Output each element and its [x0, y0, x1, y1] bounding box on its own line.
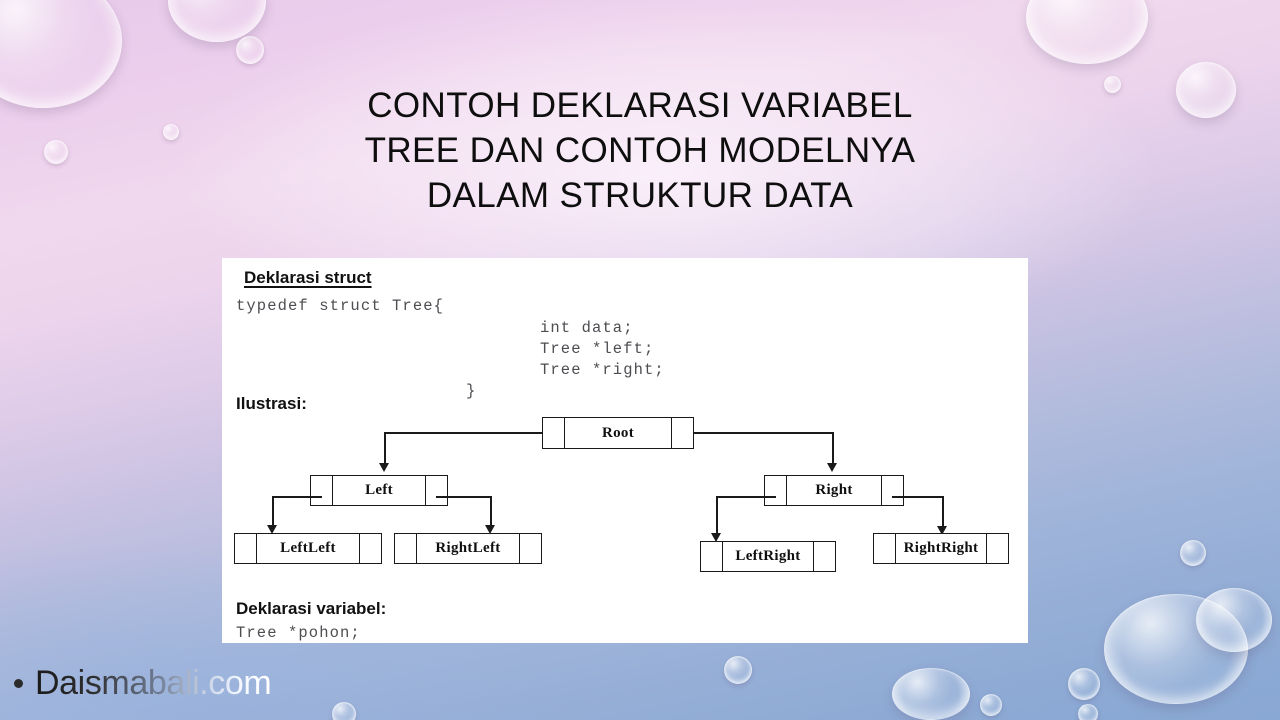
slide: CONTOH DEKLARASI VARIABEL TREE DAN CONTO…	[0, 0, 1280, 720]
tree-node-rightright-label: RightRight	[896, 534, 986, 563]
node-right-pointer-cell	[519, 534, 541, 563]
node-left-pointer-cell	[311, 476, 333, 505]
edge-root-right-horizontal	[684, 432, 834, 434]
bubble-icon	[1078, 704, 1098, 720]
edge-left-rightleft-vertical	[490, 496, 492, 527]
slide-title: CONTOH DEKLARASI VARIABEL TREE DAN CONTO…	[170, 83, 1110, 218]
footer-brand-text: Daismabali.com	[35, 664, 271, 703]
edge-root-left-arrow	[379, 463, 389, 472]
node-left-pointer-cell	[701, 542, 723, 571]
bubble-icon	[44, 140, 68, 164]
variable-declaration-code: Tree *pohon;	[236, 624, 361, 642]
tree-node-leftright[interactable]: LeftRight	[700, 541, 836, 572]
tree-node-left[interactable]: Left	[310, 475, 448, 506]
node-right-pointer-cell	[881, 476, 903, 505]
edge-root-left-horizontal	[384, 432, 554, 434]
tree-node-leftleft-label: LeftLeft	[257, 534, 359, 563]
node-right-pointer-cell	[813, 542, 835, 571]
edge-left-leftleft-vertical	[272, 496, 274, 527]
title-line-3: DALAM STRUKTUR DATA	[170, 173, 1110, 218]
node-right-pointer-cell	[986, 534, 1008, 563]
edge-root-right-vertical	[832, 432, 834, 465]
tree-node-leftleft[interactable]: LeftLeft	[234, 533, 382, 564]
tree-node-rightleft-label: RightLeft	[417, 534, 519, 563]
bubble-icon	[892, 668, 970, 720]
bubble-icon	[980, 694, 1002, 716]
tree-node-rightleft[interactable]: RightLeft	[394, 533, 542, 564]
tree-node-rightright[interactable]: RightRight	[873, 533, 1009, 564]
edge-root-left-vertical	[384, 432, 386, 465]
tree-node-right[interactable]: Right	[764, 475, 904, 506]
title-line-1: CONTOH DEKLARASI VARIABEL	[170, 83, 1110, 128]
node-right-pointer-cell	[425, 476, 447, 505]
bubble-icon	[332, 702, 356, 720]
footer: Daismabali.com	[14, 664, 271, 703]
bubble-icon	[1196, 588, 1272, 652]
bubble-icon	[724, 656, 752, 684]
node-left-pointer-cell	[395, 534, 417, 563]
edge-left-leftleft-horizontal	[272, 496, 322, 498]
tree-node-root-label: Root	[565, 418, 671, 448]
content-panel: Deklarasi struct typedef struct Tree{ in…	[222, 258, 1028, 643]
edge-left-rightleft-horizontal	[436, 496, 492, 498]
edge-right-rightright-vertical	[942, 496, 944, 528]
bullet-icon	[14, 679, 23, 688]
edge-root-right-arrow	[827, 463, 837, 472]
node-left-pointer-cell	[543, 418, 565, 448]
variable-declaration-heading: Deklarasi variabel:	[236, 599, 386, 619]
bubble-icon	[1068, 668, 1100, 700]
node-left-pointer-cell	[874, 534, 896, 563]
tree-node-left-label: Left	[333, 476, 425, 505]
tree-node-leftright-label: LeftRight	[723, 542, 813, 571]
node-left-pointer-cell	[765, 476, 787, 505]
tree-node-root[interactable]: Root	[542, 417, 694, 449]
node-right-pointer-cell	[671, 418, 693, 448]
bubble-icon	[1180, 540, 1206, 566]
title-line-2: TREE DAN CONTOH MODELNYA	[170, 128, 1110, 173]
edge-right-rightright-horizontal	[892, 496, 944, 498]
tree-node-right-label: Right	[787, 476, 881, 505]
tree-diagram: Root Left Right	[222, 258, 1028, 643]
edge-right-leftright-horizontal	[716, 496, 776, 498]
bubble-icon	[1176, 62, 1236, 118]
node-left-pointer-cell	[235, 534, 257, 563]
node-right-pointer-cell	[359, 534, 381, 563]
bubble-icon	[236, 36, 264, 64]
edge-right-leftright-vertical	[716, 496, 718, 535]
